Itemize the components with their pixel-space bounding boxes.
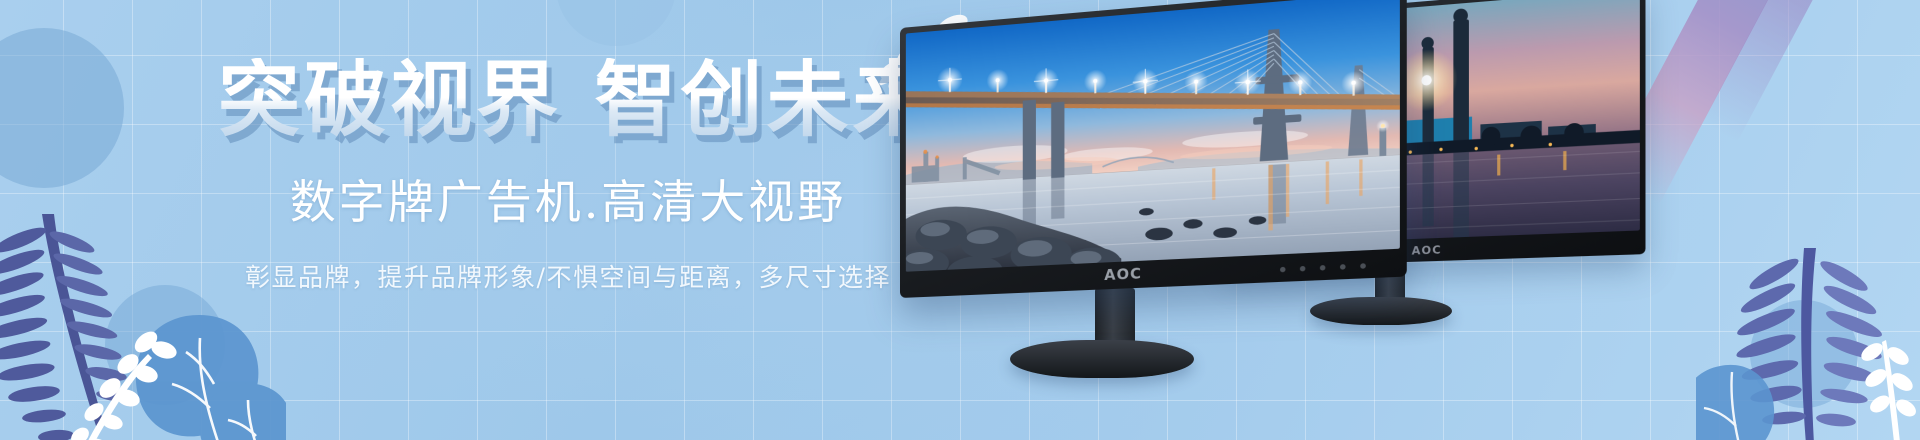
monitor-button-dot[interactable] [1280,267,1286,273]
monitor-bezel [900,0,1407,298]
product-monitors-group: AOC [880,0,1920,440]
banner-text-block: 突破视界 智创未来 数字牌广告机.高清大视野 彰显品牌，提升品牌形象/不惧空间与… [218,58,918,294]
monitor-button-dot[interactable] [1340,264,1346,270]
monitor-stand-front [1010,288,1220,378]
stand-base [1010,340,1194,378]
decorative-circle [556,0,676,46]
decorative-circle [0,28,124,188]
banner-headline: 突破视界 智创未来 [218,58,918,144]
monitor-screen-front [906,0,1400,272]
decorative-circle [105,285,225,405]
brand-logo-front: AOC [1104,266,1142,284]
monitor-button-dot[interactable] [1320,265,1326,271]
stand-base [1310,297,1452,325]
bridge-scene-icon [906,0,1400,272]
monitor-button-dot[interactable] [1360,263,1366,269]
monitor-button-dot[interactable] [1300,266,1306,272]
banner-tagline: 彰显品牌，提升品牌形象/不惧空间与距离，多尺寸选择 [218,258,918,294]
stand-neck [1095,288,1135,344]
promo-banner: 突破视界 智创未来 数字牌广告机.高清大视野 彰显品牌，提升品牌形象/不惧空间与… [0,0,1920,440]
banner-subtitle: 数字牌广告机.高清大视野 [218,166,918,232]
monitor-front: AOC [900,0,1407,298]
